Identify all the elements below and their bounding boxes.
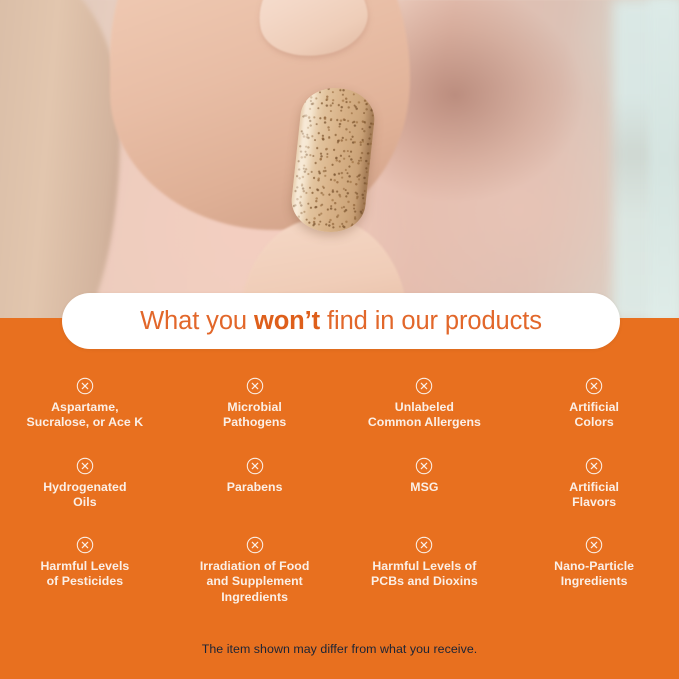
grid-item-label: Harmful Levels of PCBs and Dioxins [371,559,478,590]
circle-x-icon [246,457,264,475]
circle-x-icon [76,536,94,554]
grid-item-pcbs-dioxins: Harmful Levels of PCBs and Dioxins [340,529,510,609]
supplement-tablet [289,85,378,236]
circle-x-icon [246,377,264,395]
photo-right-edge-strip [649,0,679,320]
footer-disclaimer: The item shown may differ from what you … [0,640,679,658]
product-photo [0,0,679,320]
circle-x-icon [76,377,94,395]
circle-x-icon [246,536,264,554]
circle-x-icon [585,457,603,475]
title-prefix: What you [140,307,254,335]
grid-item-unlabeled-allergens: Unlabeled Common Allergens [340,370,510,450]
grid-item-artificial-flavors: Artificial Flavors [509,450,679,529]
circle-x-icon [585,377,603,395]
title-banner: What you won’t find in our products [62,293,620,349]
grid-item-label: Parabens [227,480,283,495]
grid-item-hydrogenated-oils: Hydrogenated Oils [0,450,170,529]
grid-item-aspartame: Aspartame, Sucralose, or Ace K [0,370,170,450]
circle-x-icon [415,377,433,395]
grid-item-label: Irradiation of Food and Supplement Ingre… [200,559,310,605]
grid-item-pesticides: Harmful Levels of Pesticides [0,529,170,609]
grid-item-label: Aspartame, Sucralose, or Ace K [27,400,144,431]
grid-item-label: Hydrogenated Oils [43,480,126,511]
circle-x-icon [585,536,603,554]
grid-item-irradiation: Irradiation of Food and Supplement Ingre… [170,529,340,609]
grid-item-label: Microbial Pathogens [223,400,286,431]
grid-item-nano-particle: Nano-Particle Ingredients [509,529,679,609]
disclaimer-text: The item shown may differ from what you … [202,642,478,656]
grid-item-msg: MSG [340,450,510,529]
grid-item-artificial-colors: Artificial Colors [509,370,679,450]
circle-x-icon [415,457,433,475]
circle-x-icon [415,536,433,554]
grid-row-2: Hydrogenated Oils Parabens MSG [0,450,679,529]
grid-item-label: Unlabeled Common Allergens [368,400,481,431]
title-suffix: find in our products [320,307,542,335]
title-emphasis: won’t [254,307,320,335]
grid-item-label: MSG [410,480,438,495]
grid-item-label: Artificial Flavors [569,480,619,511]
grid-row-1: Aspartame, Sucralose, or Ace K Microbial… [0,370,679,450]
grid-item-microbial-pathogens: Microbial Pathogens [170,370,340,450]
grid-row-3: Harmful Levels of Pesticides Irradiation… [0,529,679,609]
page-title: What you won’t find in our products [140,307,542,336]
product-infographic: What you won’t find in our products Aspa… [0,0,679,679]
grid-item-label: Artificial Colors [569,400,619,431]
circle-x-icon [76,457,94,475]
excluded-ingredients-grid: Aspartame, Sucralose, or Ace K Microbial… [0,370,679,609]
grid-item-parabens: Parabens [170,450,340,529]
hand-left-finger [0,0,120,320]
grid-item-label: Nano-Particle Ingredients [554,559,634,590]
grid-item-label: Harmful Levels of Pesticides [40,559,129,590]
